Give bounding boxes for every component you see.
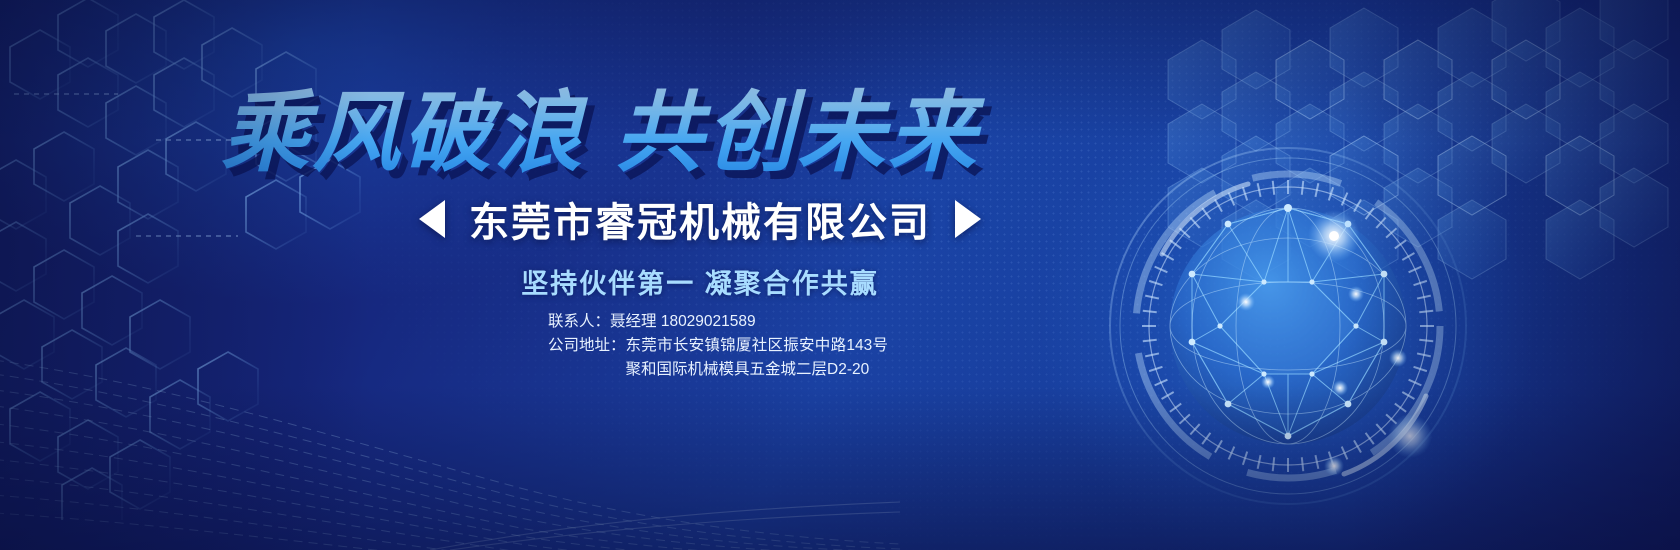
- contact-person-value: 聂经理 18029021589: [610, 310, 888, 334]
- contact-block: 联系人： 聂经理 18029021589 公司地址： 东莞市长安镇锦厦社区振安中…: [548, 310, 888, 382]
- company-name: 东莞市睿冠机械有限公司: [469, 190, 931, 248]
- headline-part2: 共创未来: [615, 83, 979, 182]
- contact-address-label: 公司地址：: [548, 334, 626, 382]
- contact-person-line: 联系人： 聂经理 18029021589: [548, 310, 888, 334]
- tech-globe: [1098, 136, 1478, 516]
- contact-address-value: 东莞市长安镇锦厦社区振安中路143号聚和国际机械模具五金城二层D2-20: [626, 334, 888, 382]
- right-triangle-icon: [955, 200, 981, 238]
- globe-graphic: [1098, 136, 1478, 516]
- contact-person-label: 联系人：: [548, 310, 610, 334]
- page-title: 乘风破浪共创未来: [0, 62, 1200, 189]
- promo-banner: 乘风破浪共创未来 东莞市睿冠机械有限公司 坚持伙伴第一 凝聚合作共赢 联系人： …: [0, 0, 1680, 550]
- contact-address-line: 公司地址： 东莞市长安镇锦厦社区振安中路143号聚和国际机械模具五金城二层D2-…: [548, 334, 888, 382]
- left-triangle-icon: [419, 200, 445, 238]
- headline-part1: 乘风破浪: [221, 83, 585, 182]
